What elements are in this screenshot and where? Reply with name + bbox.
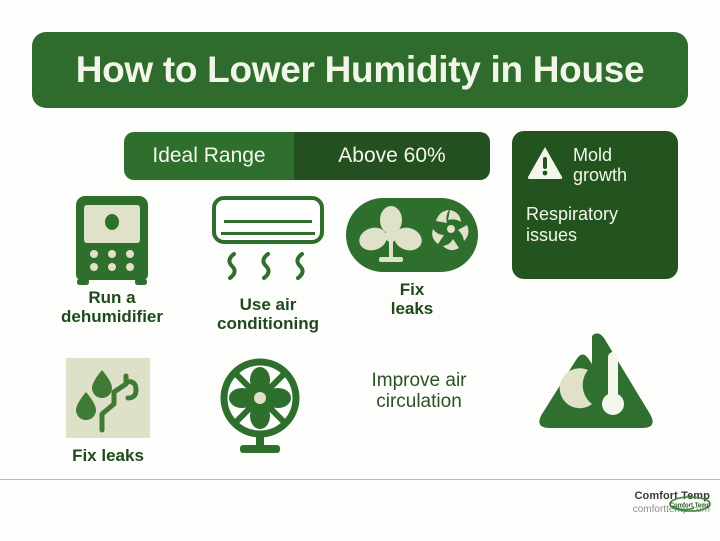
tip-fix-leaks-tile: Fix leaks bbox=[28, 358, 188, 465]
tip-fix-leaks-fans-caption: Fix leaks bbox=[332, 280, 492, 318]
tip-fix-leaks-fans-caption-line1: Fix bbox=[332, 280, 492, 299]
mountain-thermometer-icon bbox=[532, 330, 660, 434]
air-conditioner-vent-line bbox=[224, 220, 312, 223]
tip-dehumidifier-caption-line2: dehumidifier bbox=[22, 307, 202, 326]
risk-secondary-label: Respiratory issues bbox=[526, 204, 664, 245]
air-conditioner-louver-line bbox=[221, 232, 315, 235]
tip-air-conditioning-caption: Use air conditioning bbox=[178, 295, 358, 333]
droplet-pipe-glyph bbox=[66, 358, 150, 438]
footer-divider bbox=[0, 479, 720, 480]
dual-fan-icon bbox=[346, 198, 478, 272]
infographic-canvas: How to Lower Humidity in House Ideal Ran… bbox=[0, 0, 720, 541]
tip-air-circulation-icon-cell bbox=[180, 356, 340, 461]
toggle-segment-ideal-range[interactable]: Ideal Range bbox=[124, 132, 294, 180]
dual-fan-glyph bbox=[346, 198, 478, 272]
pedestal-fan-icon bbox=[212, 356, 308, 456]
tip-dehumidifier-caption: Run a dehumidifier bbox=[22, 288, 202, 326]
tip-fix-leaks-tile-caption: Fix leaks bbox=[28, 446, 188, 465]
toggle-segment-above-60[interactable]: Above 60% bbox=[294, 132, 490, 180]
tip-fix-leaks-fans-caption-line2: leaks bbox=[332, 299, 492, 318]
tip-air-conditioning-caption-line1: Use air bbox=[178, 295, 358, 314]
health-risk-panel: Mold growth Respiratory issues bbox=[512, 131, 678, 279]
dehumidifier-vent-dots bbox=[88, 250, 136, 271]
tip-air-circulation-caption-line2: circulation bbox=[324, 391, 514, 412]
dehumidifier-display-panel bbox=[84, 205, 140, 243]
water-droplet-leak-icon bbox=[66, 358, 150, 438]
tip-air-conditioning: Use air conditioning bbox=[178, 196, 358, 333]
dehumidifier-icon bbox=[76, 196, 148, 280]
tip-mountain-thermometer bbox=[516, 330, 676, 439]
risk-primary-row: Mold growth bbox=[526, 145, 664, 186]
toggle-segment-ideal-range-label: Ideal Range bbox=[152, 144, 265, 168]
svg-text:Comfort Temp: Comfort Temp bbox=[670, 503, 711, 509]
tip-dehumidifier-caption-line1: Run a bbox=[22, 288, 202, 307]
tip-fix-leaks-tile-caption-line1: Fix leaks bbox=[28, 446, 188, 465]
air-conditioner-icon bbox=[178, 196, 358, 287]
dehumidifier-knob-icon bbox=[105, 214, 119, 230]
toggle-segment-above-60-label: Above 60% bbox=[338, 144, 445, 168]
humidity-range-toggle[interactable]: Ideal Range Above 60% bbox=[124, 132, 490, 180]
dehumidifier-feet bbox=[73, 279, 151, 285]
tip-dehumidifier: Run a dehumidifier bbox=[22, 196, 202, 326]
page-title: How to Lower Humidity in House bbox=[76, 49, 645, 91]
tip-fix-leaks-fans: Fix leaks bbox=[332, 198, 492, 318]
air-conditioner-body bbox=[212, 196, 324, 244]
tip-air-circulation-caption-line1: Improve air bbox=[324, 370, 514, 391]
warning-triangle-icon bbox=[526, 145, 564, 186]
tip-air-circulation-caption: Improve air circulation bbox=[324, 370, 514, 413]
risk-primary-label: Mold growth bbox=[573, 145, 664, 185]
page-title-bar: How to Lower Humidity in House bbox=[32, 32, 688, 108]
tip-air-circulation: Improve air circulation bbox=[324, 362, 514, 413]
airflow-waves-icon bbox=[212, 250, 324, 282]
tip-air-conditioning-caption-line2: conditioning bbox=[178, 314, 358, 333]
comfort-temp-logo: Comfort Temp bbox=[668, 495, 712, 513]
